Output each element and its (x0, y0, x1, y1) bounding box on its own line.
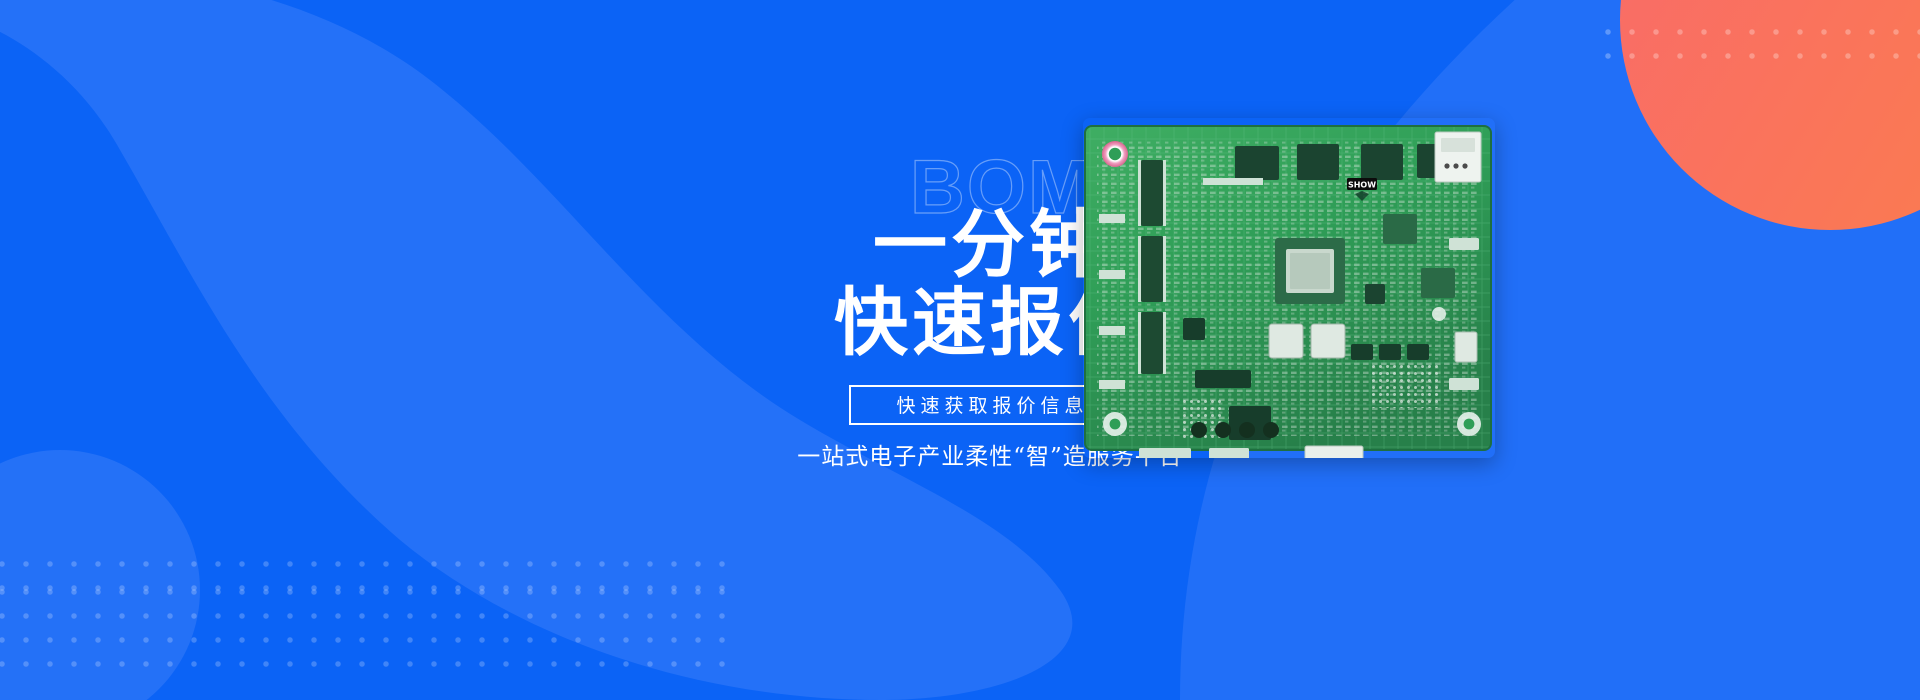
pcb-svg: SHOW (1083, 118, 1495, 458)
dot-grid-bottom-left-upper (0, 552, 730, 600)
get-quote-button-label: 快速获取报价信息 (891, 391, 1088, 418)
svg-text:SHOW: SHOW (1348, 181, 1376, 190)
pcb-circuit-board-image: SHOW (1083, 118, 1495, 458)
dot-grid-top-right (1596, 20, 1920, 68)
promo-banner: SHOW (0, 0, 1920, 700)
